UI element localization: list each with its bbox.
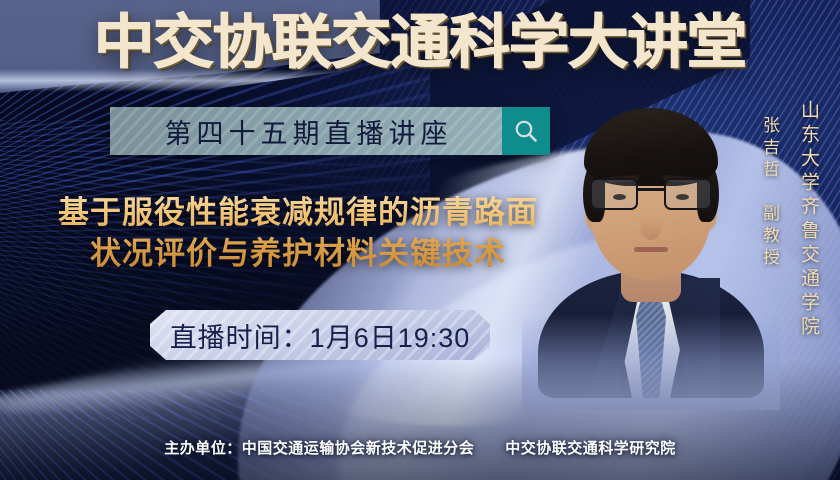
poster-canvas: 中交协联交通科学大讲堂 第四十五期直播讲座 基于服役性能衰减规律的沥青路面 状况…	[0, 0, 840, 480]
episode-label: 第四十五期直播讲座	[160, 112, 453, 151]
episode-banner: 第四十五期直播讲座	[110, 107, 550, 155]
speaker-organization: 山东大学齐鲁交通学院	[795, 100, 822, 340]
speaker-name-and-title: 张吉哲 副教授	[757, 116, 782, 270]
speaker-nose	[640, 210, 662, 240]
search-icon-tile[interactable]	[502, 107, 550, 155]
broadcast-time-label: 直播时间：1月6日19:30	[170, 316, 471, 355]
eyeglass-lens-right	[664, 178, 712, 210]
episode-banner-body: 第四十五期直播讲座	[110, 107, 502, 155]
organizers-footer: 主办单位：中国交通运输协会新技术促进分会 中交协联交通科学研究院	[0, 437, 840, 458]
lecture-title-line-2: 状况评价与养护材料关键技术	[24, 233, 572, 274]
eyeglass-lens-left	[590, 178, 638, 210]
speaker-hair	[584, 108, 718, 186]
eyeglass-bridge	[638, 188, 664, 191]
lecture-title-line-1: 基于服役性能衰减规律的沥青路面	[58, 195, 538, 230]
broadcast-time-badge: 直播时间：1月6日19:30	[150, 310, 490, 360]
lecture-title: 基于服役性能衰减规律的沥青路面 状况评价与养护材料关键技术	[24, 192, 572, 274]
page-title: 中交协联交通科学大讲堂	[0, 14, 840, 72]
speaker-mouth	[634, 247, 668, 252]
search-icon	[513, 118, 539, 144]
speaker-eyeglasses	[590, 178, 712, 212]
